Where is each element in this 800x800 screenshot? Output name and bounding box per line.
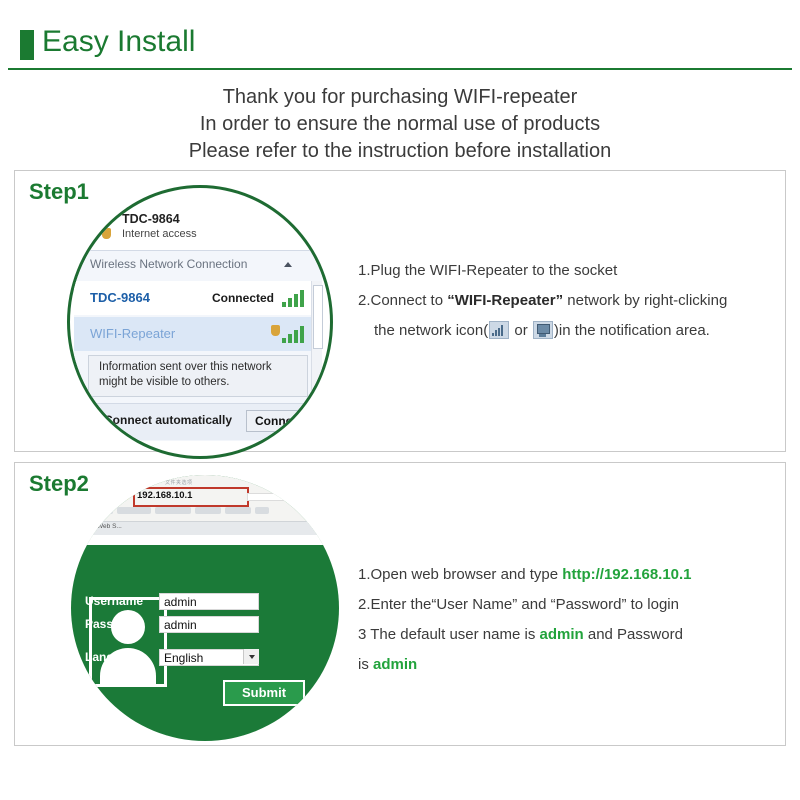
default-username-value: admin bbox=[540, 626, 584, 643]
browser-tiny-caption: 文件夹选项 bbox=[165, 479, 193, 486]
username-label: Username bbox=[85, 594, 143, 608]
favicon-icon bbox=[121, 491, 130, 500]
language-label: Language bbox=[85, 650, 142, 664]
connect-automatically-checkbox[interactable] bbox=[86, 415, 99, 428]
current-ssid: TDC-9864 bbox=[122, 212, 180, 226]
password-label: Password bbox=[85, 617, 142, 631]
header-accent-bar bbox=[20, 30, 34, 60]
step2-instruction-2: 2.Enter the“User Name” and “Password” to… bbox=[358, 590, 783, 620]
step2-instruction-1-pre: 1.Open web browser and type bbox=[358, 566, 562, 583]
submit-button[interactable]: Submit bbox=[223, 680, 305, 706]
step2-instructions: 1.Open web browser and type http://192.1… bbox=[358, 560, 783, 680]
browser-toolbar bbox=[91, 507, 321, 515]
network-name: TDC-9864 bbox=[90, 290, 150, 305]
network-signal-tray-icon bbox=[489, 321, 509, 339]
header-divider bbox=[8, 68, 792, 70]
step2-instruction-1: 1.Open web browser and type http://192.1… bbox=[358, 560, 783, 590]
search-box[interactable] bbox=[247, 493, 321, 501]
intro-line-3: Please refer to the instruction before i… bbox=[0, 138, 800, 165]
step1-instructions: 1.Plug the WIFI-Repeater to the socket 2… bbox=[358, 256, 783, 346]
browser-chrome: 文件夹选项 192.168.10.1 ...eater Web S... bbox=[71, 475, 339, 545]
default-password-value: admin bbox=[373, 656, 417, 673]
unsecured-shield-icon bbox=[271, 325, 280, 336]
network-list-scrollbar[interactable] bbox=[311, 281, 322, 401]
step1-instruction-2: 2.Connect to “WIFI-Repeater” network by … bbox=[358, 286, 783, 316]
avatar bbox=[89, 597, 167, 687]
current-ssid-status: Internet access bbox=[122, 228, 197, 240]
intro-block: Thank you for purchasing WIFI-repeater I… bbox=[0, 84, 800, 165]
network-name: WIFI-Repeater bbox=[90, 326, 175, 341]
network-row-repeater[interactable]: WIFI-Repeater bbox=[74, 317, 322, 351]
username-row: Username admin bbox=[159, 593, 339, 610]
router-url: http://192.168.10.1 bbox=[562, 566, 691, 583]
network-monitor-tray-icon bbox=[533, 321, 553, 339]
step2-screenshot-circle: 文件夹选项 192.168.10.1 ...eater Web S... Use… bbox=[71, 475, 339, 741]
step2-instruction-3-pre: 3 The default user name is bbox=[358, 626, 540, 643]
wifi-flyout-footer: Connect automatically Connect bbox=[74, 403, 322, 440]
chevron-up-icon[interactable] bbox=[284, 262, 292, 267]
page-title: Easy Install bbox=[42, 22, 195, 62]
signal-bars-icon bbox=[282, 289, 308, 307]
step1-screenshot-circle: TDC-9864 Internet access Wireless Networ… bbox=[67, 185, 333, 459]
signal-bars-icon bbox=[282, 325, 308, 343]
address-bar-highlight: 192.168.10.1 bbox=[133, 487, 249, 507]
step1-instruction-1: 1.Plug the WIFI-Repeater to the socket bbox=[358, 256, 783, 286]
step2-instruction-4: is admin bbox=[358, 650, 783, 680]
step1-instruction-3-pre: the network icon( bbox=[374, 322, 488, 339]
step1-instruction-2-pre: 2.Connect to bbox=[358, 292, 447, 309]
step2-instruction-3-post: and Password bbox=[584, 626, 683, 643]
warning-line-1: Information sent over this network bbox=[99, 361, 272, 373]
browser-tab-row[interactable]: ...eater Web S... bbox=[71, 521, 339, 536]
page-header: Easy Install bbox=[0, 22, 800, 70]
browser-page-top bbox=[71, 535, 339, 545]
wireless-network-list: Wireless Network Connection TDC-9864 Con… bbox=[74, 250, 322, 441]
browser-tab-title: ...eater Web S... bbox=[75, 523, 122, 530]
wireless-section-title: Wireless Network Connection bbox=[90, 257, 247, 271]
connect-automatically-label: Connect automatically bbox=[104, 413, 232, 427]
network-status: Connected bbox=[212, 291, 274, 305]
intro-line-2: In order to ensure the normal use of pro… bbox=[0, 111, 800, 138]
connect-button[interactable]: Connect bbox=[246, 410, 312, 432]
network-row-connected[interactable]: TDC-9864 Connected bbox=[74, 281, 322, 315]
step2-instruction-3: 3 The default user name is admin and Pas… bbox=[358, 620, 783, 650]
network-warning-box: Information sent over this network might… bbox=[88, 355, 308, 397]
wireless-section-header[interactable]: Wireless Network Connection bbox=[74, 251, 322, 279]
step1-instruction-2-quoted: “WIFI-Repeater” bbox=[447, 292, 563, 309]
username-input[interactable]: admin bbox=[159, 593, 259, 610]
step1-instruction-3-mid: or bbox=[510, 322, 532, 339]
step1-label: Step1 bbox=[29, 179, 89, 205]
chevron-down-icon[interactable] bbox=[243, 649, 259, 664]
step1-instruction-3-post: )in the notification area. bbox=[554, 322, 710, 339]
password-input[interactable]: admin bbox=[159, 616, 259, 633]
intro-line-1: Thank you for purchasing WIFI-repeater bbox=[0, 84, 800, 111]
step1-instruction-2-post: network by right-clicking bbox=[563, 292, 727, 309]
step1-instruction-3: the network icon( or )in the notificatio… bbox=[358, 316, 783, 346]
language-row: Language English bbox=[159, 649, 339, 666]
warning-line-2: might be visible to others. bbox=[99, 376, 229, 388]
step2-instruction-4-pre: is bbox=[358, 656, 373, 673]
password-row: Password admin bbox=[159, 616, 339, 633]
wifi-signal-small-icon bbox=[102, 226, 116, 240]
address-input[interactable]: 192.168.10.1 bbox=[137, 490, 241, 500]
